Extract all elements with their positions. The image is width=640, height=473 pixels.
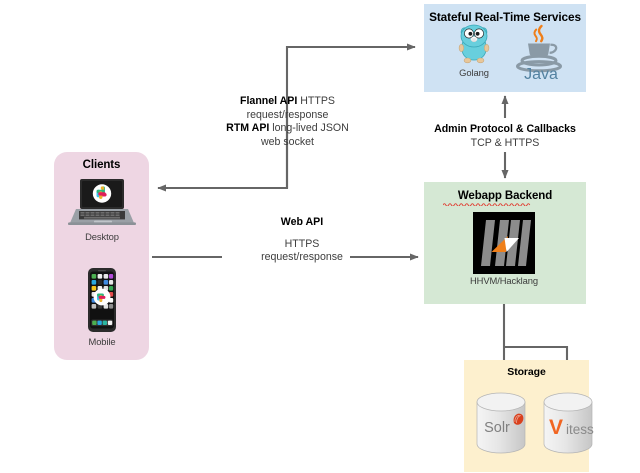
spellcheck-squiggle [443,202,531,206]
edge-label-web-api: Web API HTTPS request/response [232,216,372,265]
architecture-diagram-canvas: Stateful Real-Time Services [0,0,640,473]
rtm-api-protocol: long-lived JSON [269,122,348,134]
java-wordmark: Java [524,66,558,80]
node-label-desktop: Desktop [62,231,142,242]
group-title-webapp: Webapp Backend [424,190,586,202]
node-label-mobile: Mobile [62,336,142,347]
node-java: Java [508,22,574,80]
node-vitess: V itess [540,392,596,454]
node-label-hhvm: HHVM/Hacklang [465,275,543,286]
node-solr: Solr [473,392,529,454]
laptop-slack-icon [68,178,136,230]
node-desktop: Desktop [62,178,142,242]
node-label-golang: Golang [446,67,502,78]
java-cup-icon: Java [512,22,570,80]
smartphone-slack-icon [82,267,122,335]
solr-database-icon: Solr [475,392,527,454]
rtm-api-term: RTM API [226,122,269,134]
edge-label-flannel-rtm-api: Flannel API HTTPS request/response RTM A… [190,95,385,149]
admin-protocol-term: Admin Protocol & Callbacks [434,123,576,135]
admin-protocol-detail: TCP & HTTPS [410,137,600,151]
vitess-wordmark-rest: itess [566,422,594,437]
rtm-api-detail: web socket [190,136,385,150]
node-golang: Golang [446,22,502,78]
flannel-api-protocol: HTTPS [297,95,335,107]
node-hhvm: HHVM/Hacklang [465,212,543,286]
node-mobile: Mobile [62,267,142,347]
vitess-database-icon: V itess [542,392,594,454]
edge-label-admin-protocol: Admin Protocol & Callbacks TCP & HTTPS [410,123,600,150]
golang-gopher-icon [452,22,496,66]
flannel-api-term: Flannel API [240,95,297,107]
group-title-storage: Storage [464,366,589,378]
web-api-detail: request/response [232,251,372,265]
flannel-api-detail: request/response [190,109,385,123]
hhvm-logo-icon [473,212,535,274]
web-api-protocol: HTTPS [232,238,372,252]
solr-wordmark: Solr [484,420,510,436]
web-api-term: Web API [281,216,323,228]
vitess-wordmark-v: V [549,416,563,439]
group-title-clients: Clients [54,159,149,171]
